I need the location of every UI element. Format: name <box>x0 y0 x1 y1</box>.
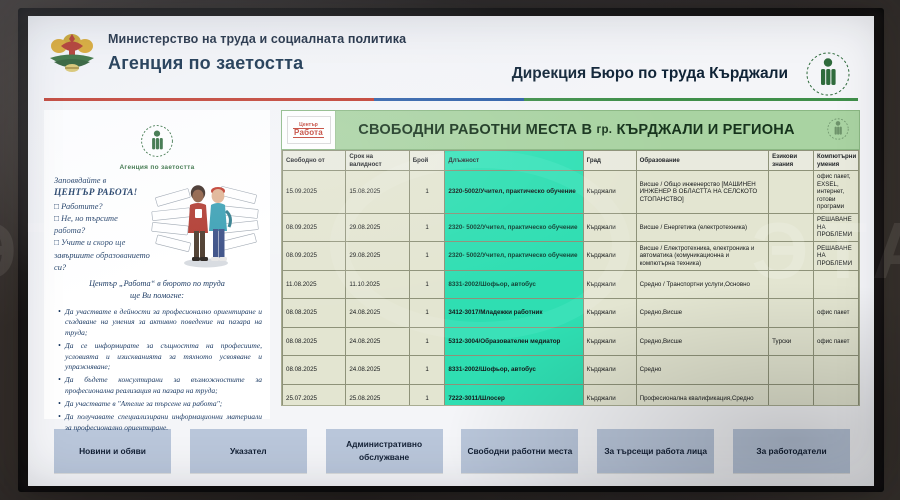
cell-count: 1 <box>409 242 445 271</box>
page-title: СВОБОДНИ РАБОТНИ МЕСТА В гр. КЪРДЖАЛИ И … <box>336 111 817 149</box>
poster-illustration <box>150 175 262 269</box>
vacancies-table: Свободно от Срок на валидност Брой Длъжн… <box>282 150 859 406</box>
column-header-languages[interactable]: Езикови знания <box>769 151 814 171</box>
cell-city: Кърджали <box>583 242 636 271</box>
nav-button-vacancies[interactable]: Свободни работни места <box>461 429 578 473</box>
cell-free-from: 25.07.2025 <box>283 384 346 406</box>
cell-education: Професионална квалификация,Средно <box>636 384 768 406</box>
cell-position: 2320- 5002/Учител, практическо обучение <box>445 213 583 242</box>
cell-free-from: 08.09.2025 <box>283 242 346 271</box>
banner-title-main: СВОБОДНИ РАБОТНИ МЕСТА В <box>358 122 592 138</box>
poster-mid-line-1: Център „Работа“ в бюрото по труда <box>52 278 262 290</box>
header-titles: Министерство на труда и социалната полит… <box>108 24 406 74</box>
screen-display: Министерство на труда и социалната полит… <box>28 16 874 486</box>
poster-question-1: □ Не, но търсите работа? <box>54 213 150 237</box>
poster-question-0: □ Работите? <box>54 201 150 213</box>
column-header-education[interactable]: Образование <box>636 151 768 171</box>
cell-languages <box>769 384 814 406</box>
cell-computer: офис пакет <box>814 327 859 356</box>
cell-position: 2320-5002/Учител, практическо обучение <box>445 171 583 214</box>
poster-logo: Агенция по заетостта <box>52 124 262 171</box>
cell-languages <box>769 213 814 242</box>
column-header-valid[interactable]: Срок на валидност <box>346 151 409 171</box>
cell-languages <box>769 270 814 299</box>
cell-free-from: 15.09.2025 <box>283 171 346 214</box>
cell-computer: офис пакет <box>814 299 859 328</box>
poster-person-left <box>188 185 208 261</box>
table-row[interactable]: 15.09.2025 15.08.2025 1 2320-5002/Учител… <box>283 171 859 214</box>
column-header-computer[interactable]: Компютърни умения <box>814 151 859 171</box>
cell-computer <box>814 384 859 406</box>
cell-valid: 24.08.2025 <box>346 356 409 385</box>
cell-position: 5312-3004/Образователен медиатор <box>445 327 583 356</box>
cell-count: 1 <box>409 356 445 385</box>
cell-education: Средно,Висше <box>636 327 768 356</box>
cell-free-from: 11.08.2025 <box>283 270 346 299</box>
cell-valid: 11.10.2025 <box>346 270 409 299</box>
cell-education: Висше / Общо инженерство [МАШИНЕН ИНЖЕНЕ… <box>636 171 768 214</box>
cell-city: Кърджали <box>583 171 636 214</box>
page-body: Агенция по заетостта Заповядайте в ЦЕНТЪ… <box>28 101 874 419</box>
poster-mid-line-2: ще Ви помогне: <box>52 290 262 302</box>
cell-count: 1 <box>409 270 445 299</box>
agency-mark-icon <box>817 111 859 149</box>
cell-computer: РЕШАВАНЕ НА ПРОБЛЕМИ <box>814 213 859 242</box>
vacancies-banner: Център Работа СВОБОДНИ РАБОТНИ МЕСТА В г… <box>281 110 860 150</box>
cell-computer: офис пакет, EXSEL, интернет, готови прог… <box>814 171 859 214</box>
cell-valid: 24.08.2025 <box>346 299 409 328</box>
column-header-position[interactable]: Длъжност <box>445 151 583 171</box>
poster-top: Заповядайте в ЦЕНТЪР РАБОТА! □ Работите?… <box>52 175 262 274</box>
vacancies-panel: Център Работа СВОБОДНИ РАБОТНИ МЕСТА В г… <box>281 110 860 419</box>
poster-question-2: □ Учите и скоро ще завършите образование… <box>54 237 150 274</box>
table-row[interactable]: 25.07.2025 25.08.2025 1 7222-3011/Шлосер… <box>283 384 859 406</box>
cell-free-from: 08.09.2025 <box>283 213 346 242</box>
cell-languages <box>769 171 814 214</box>
cell-languages <box>769 299 814 328</box>
list-item: Да получавате специализирани информацион… <box>58 412 262 433</box>
table-row[interactable]: 08.08.2025 24.08.2025 1 3412-3017/Младеж… <box>283 299 859 328</box>
column-header-city[interactable]: Град <box>583 151 636 171</box>
cell-valid: 29.08.2025 <box>346 242 409 271</box>
badge-name-label: Работа <box>293 128 324 138</box>
cell-city: Кърджали <box>583 299 636 328</box>
cell-city: Кърджали <box>583 270 636 299</box>
directorate-title: Дирекция Бюро по труда Кърджали <box>512 65 788 83</box>
cell-count: 1 <box>409 213 445 242</box>
cell-position: 3412-3017/Младежки работник <box>445 299 583 328</box>
page-header: Министерство на труда и социалната полит… <box>28 16 874 98</box>
list-item: Да бъдете консултирани за възможностите … <box>58 375 262 396</box>
ministry-title: Министерство на труда и социалната полит… <box>108 32 406 46</box>
cell-education: Средно / Транспортни услуги,Основно <box>636 270 768 299</box>
cell-valid: 15.08.2025 <box>346 171 409 214</box>
cell-languages <box>769 356 814 385</box>
cell-valid: 24.08.2025 <box>346 327 409 356</box>
cell-count: 1 <box>409 384 445 406</box>
poster-center-name: ЦЕНТЪР РАБОТА! <box>54 187 150 201</box>
poster-mid-text: Център „Работа“ в бюрото по труда ще Ви … <box>52 278 262 303</box>
cell-education: Висше / Електротехника, електроника и ав… <box>636 242 768 271</box>
poster-bullet-list: Да участвате в дейности за професионално… <box>52 307 262 434</box>
banner-title-tail: КЪРДЖАЛИ И РЕГИОНА <box>616 122 794 138</box>
cell-education: Висше / Енергетика (електротехника) <box>636 213 768 242</box>
coat-of-arms-icon <box>44 28 100 78</box>
table-row[interactable]: 11.08.2025 11.10.2025 1 8331-2002/Шофьор… <box>283 270 859 299</box>
cell-education: Средно <box>636 356 768 385</box>
cell-position: 8331-2002/Шофьор, автобус <box>445 356 583 385</box>
cell-languages <box>769 242 814 271</box>
table-header-row: Свободно от Срок на валидност Брой Длъжн… <box>283 151 859 171</box>
tricolor-divider <box>44 98 858 101</box>
cell-count: 1 <box>409 171 445 214</box>
poster-logo-caption: Агенция по заетостта <box>52 164 262 171</box>
cell-computer <box>814 270 859 299</box>
cell-languages: Турски <box>769 327 814 356</box>
cell-computer <box>814 356 859 385</box>
kiosk-page: Министерство на труда и социалната полит… <box>28 16 874 486</box>
center-rabota-poster: Агенция по заетостта Заповядайте в ЦЕНТЪ… <box>44 110 270 419</box>
list-item: Да участвате в дейности за професионално… <box>58 307 262 339</box>
cell-count: 1 <box>409 327 445 356</box>
table-row[interactable]: 08.08.2025 24.08.2025 1 5312-3004/Образо… <box>283 327 859 356</box>
nav-button-news[interactable]: Новини и обяви <box>54 429 171 473</box>
nav-button-jobseekers[interactable]: За търсещи работа лица <box>597 429 714 473</box>
nav-button-employers[interactable]: За работодатели <box>733 429 850 473</box>
cell-position: 2320- 5002/Учител, практическо обучение <box>445 242 583 271</box>
agency-title: Агенция по заетостта <box>108 53 406 74</box>
cell-free-from: 08.08.2025 <box>283 327 346 356</box>
poster-questions: Заповядайте в ЦЕНТЪР РАБОТА! □ Работите?… <box>52 175 150 274</box>
cell-free-from: 08.08.2025 <box>283 299 346 328</box>
cell-city: Кърджали <box>583 384 636 406</box>
agency-employment-logo-icon <box>140 124 174 158</box>
table-head: Свободно от Срок на валидност Брой Длъжн… <box>283 151 859 171</box>
rabota-center-logo-icon: Център Работа <box>282 111 336 149</box>
column-header-free-from[interactable]: Свободно от <box>283 151 346 171</box>
banner-title-small: гр. <box>597 124 613 136</box>
table-row[interactable]: 08.09.2025 29.08.2025 1 2320- 5002/Учите… <box>283 213 859 242</box>
table-body: 15.09.2025 15.08.2025 1 2320-5002/Учител… <box>283 171 859 407</box>
cell-valid: 29.08.2025 <box>346 213 409 242</box>
table-row[interactable]: 08.09.2025 29.08.2025 1 2320- 5002/Учите… <box>283 242 859 271</box>
vacancies-table-wrapper[interactable]: Свободно от Срок на валидност Брой Длъжн… <box>281 150 860 406</box>
table-row[interactable]: 08.08.2025 24.08.2025 1 8331-2002/Шофьор… <box>283 356 859 385</box>
cell-free-from: 08.08.2025 <box>283 356 346 385</box>
nav-button-directory[interactable]: Указател <box>190 429 307 473</box>
cell-position: 7222-3011/Шлосер <box>445 384 583 406</box>
cell-education: Средно,Висше <box>636 299 768 328</box>
monitor-photo: Министерство на труда и социалната полит… <box>0 0 900 500</box>
list-item: Да участвате в "Ателие за търсене на раб… <box>58 399 262 410</box>
cell-city: Кърджали <box>583 356 636 385</box>
nav-button-admin[interactable]: Административно обслужване <box>326 429 443 473</box>
cell-city: Кърджали <box>583 213 636 242</box>
header-right: Дирекция Бюро по труда Кърджали <box>512 24 852 98</box>
cell-computer: РЕШАВАНЕ НА ПРОБЛЕМИ <box>814 242 859 271</box>
column-header-count[interactable]: Брой <box>409 151 445 171</box>
cell-city: Кърджали <box>583 327 636 356</box>
cell-valid: 25.08.2025 <box>346 384 409 406</box>
list-item: Да се информирате за същността на профес… <box>58 341 262 373</box>
cell-position: 8331-2002/Шофьор, автобус <box>445 270 583 299</box>
poster-invite-line: Заповядайте в <box>54 175 150 187</box>
agency-employment-logo-icon <box>804 50 852 98</box>
cell-count: 1 <box>409 299 445 328</box>
